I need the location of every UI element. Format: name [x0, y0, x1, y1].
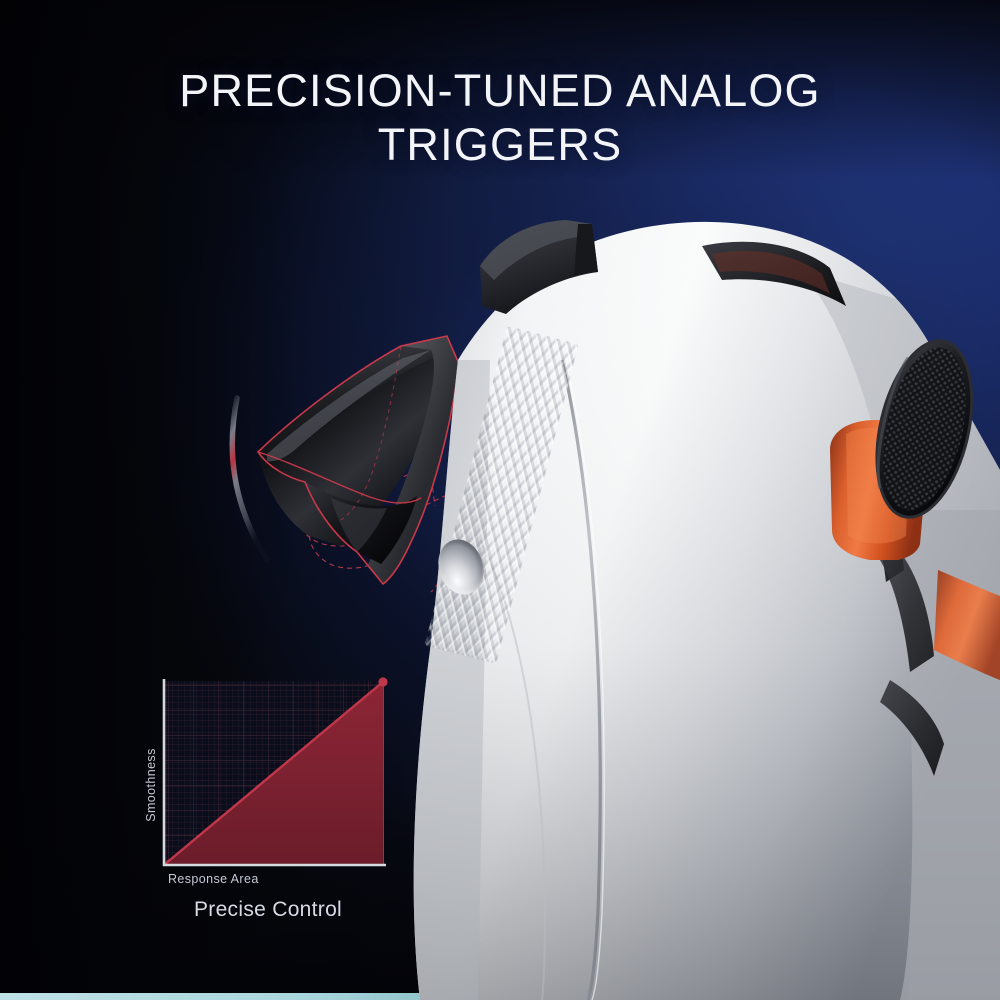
chart-svg [118, 660, 418, 890]
chart-y-axis-label: Smoothness [144, 730, 158, 840]
product-feature-banner: PRECISION-TUNED ANALOG TRIGGERS [0, 0, 1000, 1000]
response-curve-chart: Response Area Smoothness Precise Control [118, 660, 418, 930]
chart-x-axis-label: Response Area [168, 872, 259, 886]
analog-stick[interactable] [820, 300, 1000, 560]
endpoint-marker [378, 677, 387, 686]
chart-caption: Precise Control [118, 898, 418, 922]
